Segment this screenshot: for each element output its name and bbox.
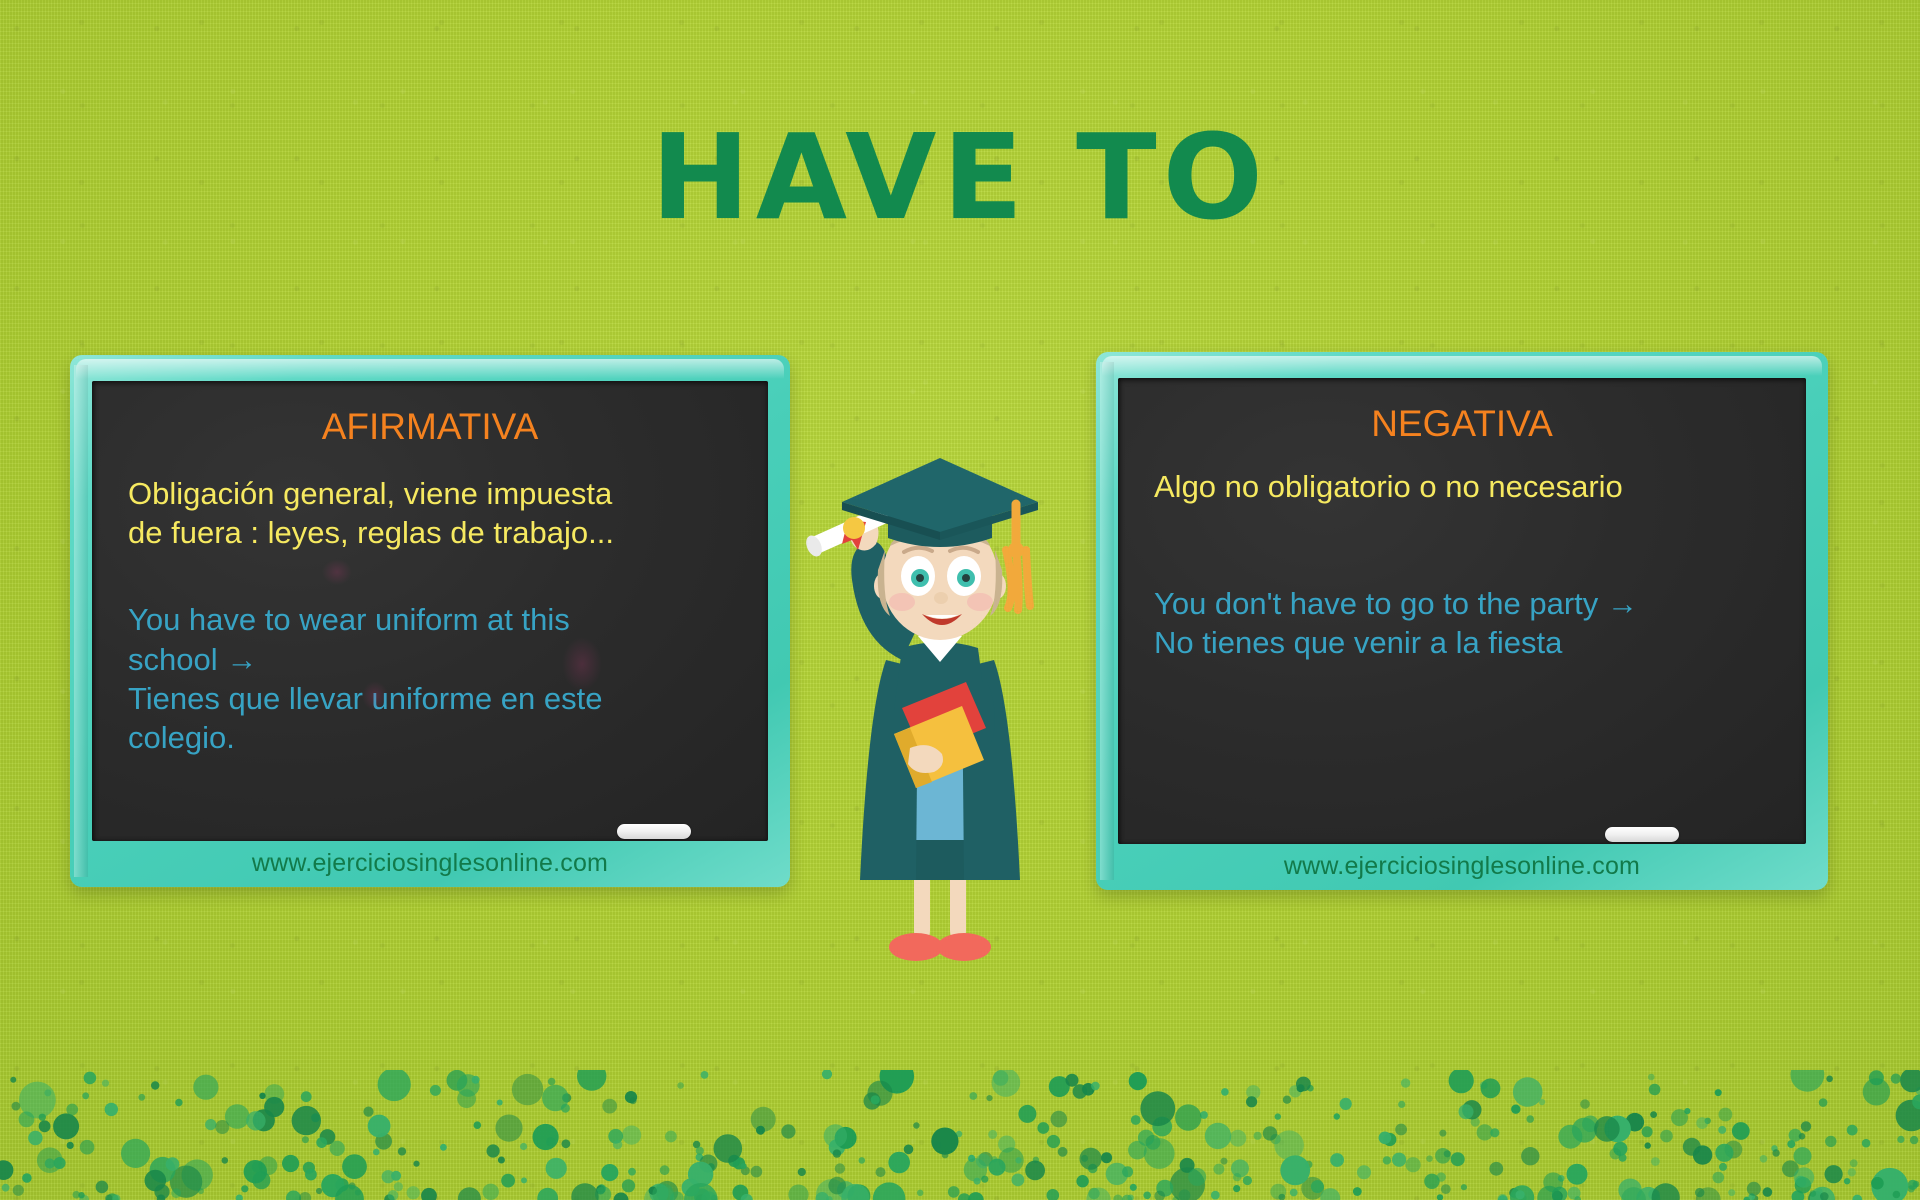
confetti-dot xyxy=(622,1126,641,1145)
confetti-dot xyxy=(1330,1153,1344,1167)
confetti-dot xyxy=(546,1137,556,1147)
confetti-dot xyxy=(871,1095,880,1104)
confetti-dot xyxy=(644,1185,675,1200)
confetti-dot xyxy=(1782,1160,1799,1177)
confetti-dot xyxy=(1138,1130,1154,1146)
confetti-dot xyxy=(1179,1189,1191,1200)
confetti-dot xyxy=(1301,1177,1324,1200)
confetti-dot xyxy=(1567,1164,1588,1185)
confetti-dot xyxy=(407,1186,420,1199)
confetti-dot xyxy=(252,1161,263,1172)
confetti-dot xyxy=(1912,1095,1920,1110)
confetti-dot xyxy=(1568,1187,1581,1200)
confetti-dot xyxy=(39,1114,46,1121)
shoe-left xyxy=(889,933,943,961)
dress-hem-shadow xyxy=(908,840,972,880)
confetti-dot xyxy=(373,1149,380,1156)
confetti-dot xyxy=(733,1185,749,1200)
confetti-dot xyxy=(826,1196,833,1200)
confetti-dot xyxy=(520,1143,527,1150)
confetti-dot xyxy=(301,1091,312,1102)
confetti-dot xyxy=(1379,1132,1392,1145)
confetti-dot xyxy=(1810,1187,1835,1200)
blackboard-surface-negative: NEGATIVA Algo no obligatorio o no necesa… xyxy=(1118,378,1806,844)
confetti-dot xyxy=(976,1154,991,1169)
confetti-dot xyxy=(699,1155,717,1173)
confetti-dot xyxy=(1088,1164,1097,1173)
confetti-dot xyxy=(1290,1189,1298,1197)
confetti-dot xyxy=(1725,1141,1743,1159)
confetti-dot xyxy=(1154,1191,1165,1200)
confetti-dot xyxy=(1844,1178,1850,1184)
confetti-dot xyxy=(1719,1108,1733,1122)
confetti-dot xyxy=(1791,1070,1825,1092)
confetti-dot xyxy=(649,1187,657,1195)
confetti-dot xyxy=(391,1171,401,1181)
confetti-dot xyxy=(13,1185,24,1196)
confetti-dot xyxy=(121,1139,150,1168)
confetti-dot xyxy=(1519,1195,1527,1200)
confetti-dot xyxy=(1574,1196,1581,1200)
confetti-dot xyxy=(1243,1176,1252,1185)
confetti-dot xyxy=(1106,1163,1128,1185)
confetti-dot xyxy=(1395,1124,1407,1136)
confetti-dot xyxy=(1610,1148,1621,1159)
confetti-dot xyxy=(998,1136,1015,1153)
confetti-dot xyxy=(1893,1191,1901,1199)
confetti-dot xyxy=(1552,1187,1567,1200)
pupil-left xyxy=(916,574,924,582)
confetti-dot xyxy=(305,1169,317,1181)
confetti-dot xyxy=(37,1147,63,1173)
confetti-dot xyxy=(264,1084,284,1104)
confetti-dot xyxy=(382,1170,395,1183)
confetti-dot xyxy=(1642,1126,1653,1137)
confetti-dot xyxy=(1270,1184,1286,1200)
confetti-dot xyxy=(694,1189,710,1200)
confetti-dot xyxy=(66,1104,78,1116)
confetti-dot xyxy=(1580,1099,1590,1109)
confetti-dot xyxy=(378,1070,411,1101)
confetti-dot xyxy=(1869,1070,1884,1085)
confetti-dot xyxy=(1648,1074,1655,1081)
confetti-dot xyxy=(981,1176,988,1183)
confetti-dot xyxy=(1131,1115,1141,1125)
confetti-dot xyxy=(458,1187,481,1200)
confetti-dot xyxy=(175,1099,182,1106)
confetti-dot xyxy=(1297,1084,1305,1092)
confetti-dot xyxy=(151,1081,159,1089)
confetti-dot xyxy=(252,1171,270,1189)
cheek-left xyxy=(889,593,915,611)
confetti-dot xyxy=(1789,1129,1802,1142)
confetti-dot xyxy=(1552,1191,1563,1200)
confetti-dot xyxy=(1033,1157,1039,1163)
confetti-dot xyxy=(264,1097,284,1117)
confetti-dot xyxy=(335,1178,348,1191)
confetti-dot xyxy=(398,1147,406,1155)
confetti-dot xyxy=(824,1124,847,1147)
confetti-dot xyxy=(303,1162,315,1174)
confetti-dot xyxy=(1129,1072,1147,1090)
confetti-dot xyxy=(958,1193,971,1200)
confetti-dot xyxy=(44,1089,51,1096)
confetti-dot xyxy=(1671,1109,1688,1126)
confetti-dot xyxy=(548,1078,556,1086)
confetti-dot xyxy=(1012,1174,1025,1187)
confetti-dot xyxy=(1772,1149,1779,1156)
confetti-dot xyxy=(1760,1155,1768,1163)
confetti-dot xyxy=(913,1122,919,1128)
confetti-dot xyxy=(1122,1195,1132,1200)
confetti-dot xyxy=(1274,1130,1304,1160)
pupil-right xyxy=(962,574,970,582)
confetti-dot xyxy=(1808,1191,1823,1200)
confetti-dot xyxy=(349,1182,356,1189)
confetti-dot xyxy=(102,1080,109,1087)
confetti-dot xyxy=(1490,1128,1499,1137)
confetti-dot xyxy=(1719,1163,1727,1171)
confetti-dot xyxy=(1771,1145,1777,1151)
confetti-dot xyxy=(1509,1188,1519,1198)
nose xyxy=(934,592,948,604)
confetti-dot xyxy=(597,1184,606,1193)
confetti-dot xyxy=(1437,1172,1446,1181)
confetti-dot xyxy=(1015,1157,1021,1163)
confetti-dot xyxy=(1713,1172,1725,1184)
confetti-dot xyxy=(1073,1084,1087,1098)
confetti-dot xyxy=(867,1081,892,1106)
confetti-dot xyxy=(740,1163,746,1169)
confetti-dot xyxy=(833,1149,841,1157)
confetti-dot xyxy=(84,1072,97,1085)
confetti-dot xyxy=(1082,1083,1095,1096)
confetti-dot xyxy=(1850,1159,1858,1167)
confetti-dot xyxy=(751,1166,763,1178)
confetti-dot xyxy=(1398,1101,1405,1108)
confetti-dot xyxy=(282,1155,299,1172)
leg-right xyxy=(950,878,966,942)
confetti-dot xyxy=(1305,1161,1313,1169)
confetti-dot xyxy=(1862,1139,1871,1148)
confetti-dot xyxy=(67,1142,74,1149)
confetti-dot xyxy=(1715,1089,1722,1096)
confetti-dot xyxy=(1439,1130,1446,1137)
confetti-dot xyxy=(1645,1142,1651,1148)
confetti-dot xyxy=(1795,1177,1812,1194)
confetti-dot xyxy=(933,1141,942,1150)
confetti-dot xyxy=(1406,1157,1421,1172)
confetti-dot xyxy=(1353,1187,1362,1196)
confetti-dot xyxy=(693,1141,700,1148)
confetti-dot xyxy=(1795,1176,1807,1188)
confetti-dot xyxy=(1913,1181,1920,1188)
confetti-dot xyxy=(73,1191,81,1199)
confetti-dot xyxy=(1140,1091,1175,1126)
confetti-dot xyxy=(822,1070,832,1079)
confetti-dot xyxy=(1619,1154,1627,1162)
confetti-dot xyxy=(1156,1180,1173,1197)
confetti-dot xyxy=(1908,1180,1918,1190)
confetti-dot xyxy=(19,1082,56,1119)
confetti-dot xyxy=(10,1077,16,1083)
confetti-dot xyxy=(145,1170,167,1192)
confetti-dot xyxy=(1437,1194,1443,1200)
confetti-dot xyxy=(79,1195,89,1200)
confetti-dot xyxy=(1558,1175,1565,1182)
confetti-dot xyxy=(1172,1197,1179,1200)
confetti-dot xyxy=(487,1144,500,1157)
board-description-negative: Algo no obligatorio o no necesario xyxy=(1154,467,1770,506)
confetti-dot xyxy=(942,1152,949,1159)
confetti-dot xyxy=(873,1182,906,1200)
confetti-dot xyxy=(244,1160,267,1183)
confetti-dot xyxy=(501,1174,515,1188)
confetti-dot xyxy=(1613,1142,1627,1156)
chalk-stick-icon xyxy=(1605,827,1679,842)
confetti-dot xyxy=(1825,1165,1843,1183)
confetti-dot xyxy=(1246,1085,1260,1099)
confetti-dot xyxy=(571,1183,598,1200)
confetti-dot xyxy=(430,1085,441,1096)
confetti-dot xyxy=(138,1094,145,1101)
confetti-dot xyxy=(1897,1136,1904,1143)
confetti-dot xyxy=(1792,1190,1805,1200)
confetti-dot xyxy=(696,1147,704,1155)
confetti-dot xyxy=(440,1144,447,1151)
confetti-dot xyxy=(1047,1135,1060,1148)
tassel-strands xyxy=(1006,550,1030,610)
confetti-dot xyxy=(1233,1185,1240,1192)
confetti-dot xyxy=(622,1179,635,1192)
confetti-dot xyxy=(1799,1133,1806,1140)
board-heading-negative: NEGATIVA xyxy=(1154,404,1770,445)
confetti-dot xyxy=(1230,1130,1247,1147)
confetti-dot xyxy=(166,1157,180,1171)
confetti-dot xyxy=(311,1113,320,1122)
confetti-dot xyxy=(1660,1130,1673,1143)
confetti-dot xyxy=(1489,1162,1503,1176)
confetti-dot xyxy=(601,1164,618,1181)
confetti-dot xyxy=(1279,1194,1286,1200)
confetti-dot xyxy=(964,1158,987,1181)
confetti-dot xyxy=(375,1133,392,1150)
confetti-dot xyxy=(1113,1195,1122,1200)
confetti-dot xyxy=(1498,1195,1508,1200)
confetti-dot xyxy=(259,1156,278,1175)
confetti-dot xyxy=(1787,1140,1795,1148)
confetti-dot xyxy=(1144,1138,1175,1169)
confetti-dot xyxy=(1289,1085,1301,1097)
confetti-dot xyxy=(1693,1145,1712,1164)
confetti-dot xyxy=(969,1092,977,1100)
confetti-dot xyxy=(22,1173,32,1183)
confetti-dot xyxy=(1449,1070,1474,1093)
confetti-dot xyxy=(292,1106,321,1135)
confetti-dot xyxy=(917,1190,923,1196)
confetti-dot xyxy=(660,1165,670,1175)
confetti-dot xyxy=(1696,1117,1708,1129)
confetti-dot xyxy=(988,1130,997,1139)
confetti-dot xyxy=(1521,1147,1539,1165)
confetti-dot xyxy=(1451,1152,1465,1166)
confetti-dot xyxy=(335,1185,364,1200)
confetti-dot xyxy=(1018,1105,1036,1123)
confetti-dot xyxy=(1748,1193,1755,1200)
confetti-dot xyxy=(28,1131,42,1145)
confetti-dot xyxy=(837,1181,855,1199)
confetti-dot xyxy=(330,1141,345,1156)
confetti-dot xyxy=(1695,1188,1704,1197)
confetti-dot xyxy=(733,1157,745,1169)
confetti-dot xyxy=(1444,1150,1451,1157)
confetti-dot xyxy=(956,1131,962,1137)
confetti-dot xyxy=(835,1127,857,1149)
board-url-negative[interactable]: www.ejerciciosinglesonline.com xyxy=(1096,852,1828,881)
confetti-dot xyxy=(1127,1195,1133,1200)
confetti-dot xyxy=(931,1128,958,1155)
tassel-knot xyxy=(1008,542,1024,558)
confetti-dot xyxy=(474,1121,482,1129)
confetti-dot xyxy=(1254,1132,1262,1140)
confetti-dot xyxy=(495,1115,522,1142)
confetti-dot xyxy=(656,1181,678,1200)
confetti-dot xyxy=(537,1188,558,1200)
confetti-dot xyxy=(222,1157,229,1164)
confetti-dot xyxy=(561,1104,570,1113)
confetti-dot xyxy=(696,1194,708,1200)
confetti-dot xyxy=(1383,1156,1391,1164)
confetti-dot xyxy=(320,1129,336,1145)
confetti-dot xyxy=(714,1134,743,1163)
board-url-affirmative[interactable]: www.ejerciciosinglesonline.com xyxy=(70,849,790,878)
confetti-dot xyxy=(1307,1085,1314,1092)
leg-left xyxy=(914,878,930,942)
confetti-dot xyxy=(1296,1077,1311,1092)
confetti-dot xyxy=(835,1163,845,1173)
confetti-dot xyxy=(2,1184,10,1192)
confetti-dot xyxy=(625,1091,637,1103)
confetti-dot xyxy=(602,1099,617,1114)
confetti-dot xyxy=(1916,1087,1920,1095)
confetti-dot xyxy=(1516,1190,1525,1199)
confetti-dot xyxy=(904,1145,914,1155)
confetti-dot xyxy=(215,1120,229,1134)
confetti-dot xyxy=(150,1157,176,1183)
confetti-dot xyxy=(677,1082,684,1089)
confetti-dot xyxy=(596,1185,605,1194)
confetti-dot xyxy=(171,1188,181,1198)
confetti-dot xyxy=(1101,1152,1112,1163)
confetti-dot xyxy=(1122,1166,1133,1177)
confetti-dot xyxy=(1263,1126,1277,1140)
confetti-dot xyxy=(355,1190,361,1196)
confetti-dot xyxy=(542,1085,569,1112)
confetti-dot xyxy=(1481,1078,1501,1098)
confetti-dot xyxy=(457,1089,476,1108)
confetti-dot xyxy=(1651,1157,1660,1166)
confetti-dot xyxy=(546,1158,567,1179)
confetti-dot xyxy=(1718,1126,1726,1134)
confetti-dot xyxy=(989,1159,1006,1176)
confetti-dot xyxy=(1461,1184,1467,1190)
board-description-affirmative: Obligación general, viene impuesta de fu… xyxy=(128,474,732,553)
confetti-dot xyxy=(246,1111,265,1130)
confetti-dot xyxy=(1211,1191,1220,1200)
confetti-dot xyxy=(45,1158,55,1168)
confetti-dot xyxy=(78,1192,84,1198)
confetti-dot xyxy=(711,1195,717,1200)
graduate-student-illustration xyxy=(790,410,1090,980)
confetti-dot xyxy=(1526,1115,1534,1123)
confetti-dot xyxy=(413,1161,419,1167)
confetti-dot xyxy=(1604,1116,1631,1143)
confetti-dot xyxy=(684,1183,718,1200)
blackboard-affirmative: AFIRMATIVA Obligación general, viene imp… xyxy=(70,355,790,887)
confetti-dot xyxy=(979,1152,993,1166)
confetti-dot xyxy=(363,1107,373,1117)
confetti-dot xyxy=(53,1113,79,1139)
confetti-dot xyxy=(1441,1184,1451,1194)
blackboard-negative: NEGATIVA Algo no obligatorio o no necesa… xyxy=(1096,352,1828,890)
cheek-right xyxy=(967,593,993,611)
confetti-dot xyxy=(1320,1188,1340,1200)
confetti-dot xyxy=(880,1070,915,1094)
confetti-dot xyxy=(1819,1098,1828,1107)
confetti-dot xyxy=(1652,1183,1680,1200)
confetti-dot xyxy=(1213,1164,1224,1175)
confetti-dot xyxy=(1513,1077,1543,1107)
confetti-dot xyxy=(1477,1124,1493,1140)
confetti-dot xyxy=(521,1177,527,1183)
confetti-dot xyxy=(1715,1144,1733,1162)
confetti-dot xyxy=(888,1152,910,1174)
confetti-dot xyxy=(1582,1116,1599,1133)
confetti-dot xyxy=(1188,1168,1206,1186)
confetti-dot xyxy=(1696,1187,1721,1200)
confetti-dot xyxy=(1626,1113,1645,1132)
confetti-dot xyxy=(613,1140,622,1149)
confetti-dot xyxy=(993,1070,1008,1085)
confetti-dot xyxy=(1794,1167,1814,1187)
confetti-dot xyxy=(701,1191,716,1200)
confetti-dot xyxy=(1825,1136,1836,1147)
confetti-dot xyxy=(286,1191,301,1200)
confetti-dot xyxy=(577,1070,606,1091)
confetti-dot xyxy=(1357,1165,1371,1179)
confetti-dot xyxy=(54,1157,66,1169)
confetti-dot xyxy=(1910,1136,1918,1144)
confetti-dot xyxy=(701,1071,709,1079)
confetti-dot xyxy=(948,1186,960,1198)
confetti-dot xyxy=(968,1155,975,1162)
confetti-dot xyxy=(1705,1118,1711,1124)
confetti-dot xyxy=(1205,1123,1231,1149)
confetti-dot xyxy=(741,1194,753,1200)
confetti-dot xyxy=(816,1179,847,1200)
confetti-dot xyxy=(652,1183,674,1200)
confetti-dot xyxy=(388,1190,399,1200)
confetti-dot xyxy=(1732,1122,1750,1140)
confetti-dot xyxy=(302,1136,309,1143)
confetti-dot xyxy=(1497,1194,1507,1200)
confetti-dot xyxy=(562,1093,571,1102)
confetti-dot xyxy=(1081,1155,1088,1162)
confetti-dot xyxy=(1200,1111,1208,1119)
confetti-dot xyxy=(1462,1100,1481,1119)
confetti-dot xyxy=(39,1120,51,1132)
confetti-dot xyxy=(1480,1081,1488,1089)
